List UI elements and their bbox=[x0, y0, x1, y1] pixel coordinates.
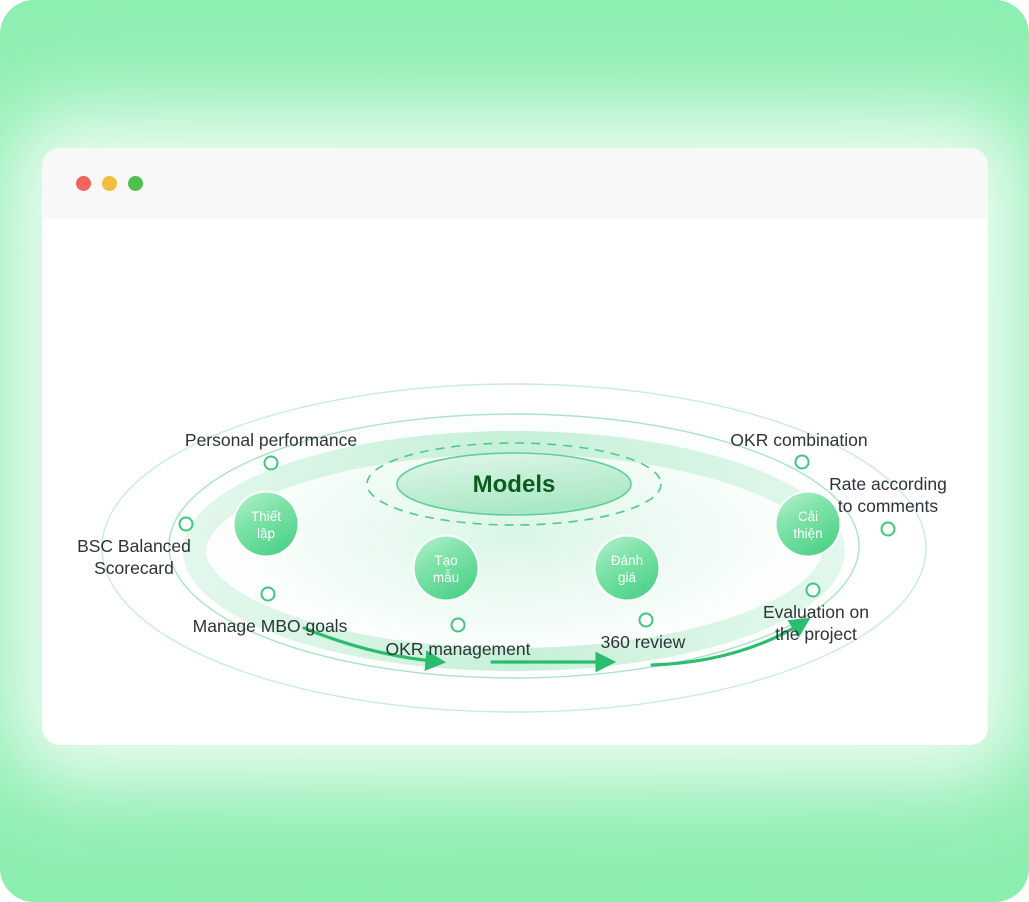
marker-bsc-balanced-scorecard bbox=[180, 518, 193, 531]
node-danh-gia[interactable]: Đánh giá bbox=[594, 535, 661, 602]
node-danh-gia-line1: Đánh bbox=[611, 553, 643, 568]
marker-360-review bbox=[640, 614, 653, 627]
label-personal-performance: Personal performance bbox=[185, 430, 357, 450]
browser-window: Models Thiết lập Tạo mẫu bbox=[42, 148, 988, 745]
models-orbit-diagram: Models Thiết lập Tạo mẫu bbox=[42, 218, 988, 745]
node-tao-mau-line1: Tạo bbox=[434, 553, 457, 568]
node-danh-gia-line2: giá bbox=[618, 570, 637, 585]
close-button[interactable] bbox=[76, 176, 91, 191]
label-evaluation-on-the-project-line2: the project bbox=[775, 624, 857, 644]
window-content: Models Thiết lập Tạo mẫu bbox=[42, 218, 988, 745]
marker-personal-performance bbox=[265, 457, 278, 470]
models-label: Models bbox=[473, 471, 556, 498]
screenshot-root: Models Thiết lập Tạo mẫu bbox=[0, 0, 1029, 902]
marker-evaluation-on-the-project bbox=[807, 584, 820, 597]
maximize-button[interactable] bbox=[128, 176, 143, 191]
label-bsc-balanced-scorecard-line2: Scorecard bbox=[94, 558, 174, 578]
label-bsc-balanced-scorecard-line1: BSC Balanced bbox=[77, 536, 191, 556]
marker-okr-management bbox=[452, 619, 465, 632]
label-okr-management: OKR management bbox=[386, 639, 531, 659]
marker-manage-mbo-goals bbox=[262, 588, 275, 601]
node-thiet-lap-line1: Thiết bbox=[251, 509, 281, 524]
label-rate-according-to-comments-line1: Rate according bbox=[829, 474, 947, 494]
label-360-review: 360 review bbox=[601, 632, 686, 652]
marker-okr-combination bbox=[796, 456, 809, 469]
node-thiet-lap-line2: lập bbox=[257, 526, 275, 541]
node-cai-thien-line1: Cải bbox=[798, 509, 818, 524]
minimize-button[interactable] bbox=[102, 176, 117, 191]
marker-rate-according-to-comments bbox=[882, 523, 895, 536]
node-cai-thien-line2: thiện bbox=[793, 526, 822, 541]
label-okr-combination: OKR combination bbox=[730, 430, 867, 450]
node-thiet-lap[interactable]: Thiết lập bbox=[233, 491, 300, 558]
node-tao-mau-line2: mẫu bbox=[433, 570, 459, 585]
window-titlebar bbox=[42, 148, 988, 218]
label-evaluation-on-the-project-line1: Evaluation on bbox=[763, 602, 869, 622]
node-cai-thien[interactable]: Cải thiện bbox=[775, 491, 842, 558]
label-manage-mbo-goals: Manage MBO goals bbox=[193, 616, 348, 636]
label-rate-according-to-comments-line2: to comments bbox=[838, 496, 938, 516]
node-tao-mau[interactable]: Tạo mẫu bbox=[413, 535, 480, 602]
